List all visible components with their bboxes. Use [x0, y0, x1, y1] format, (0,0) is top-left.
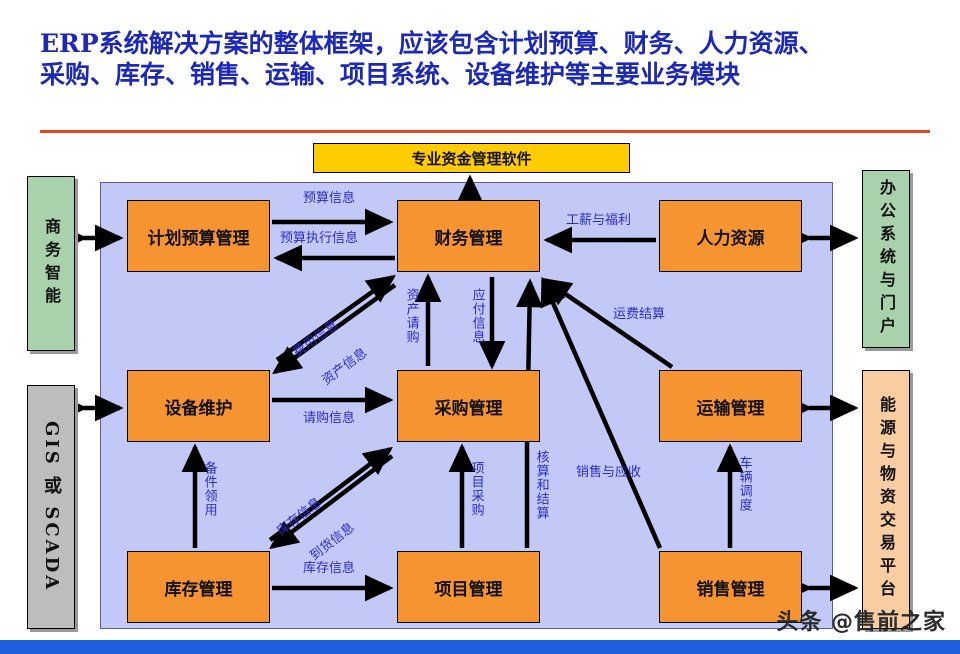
panel-energy-material-platform[interactable]: 能源与物资交易平台: [862, 370, 910, 629]
label-spare-parts: 备件领用: [202, 461, 216, 517]
title-divider: [40, 130, 930, 133]
page-title: ERP系统解决方案的整体框架，应该包含计划预算、财务、人力资源、采购、库存、销售…: [40, 28, 840, 90]
module-purchasing[interactable]: 采购管理: [397, 370, 540, 442]
label-payable-info: 应付信息: [470, 288, 484, 344]
panel-business-intelligence-label: 商务智能: [43, 218, 59, 310]
label-stock-info-bottom: 库存信息: [303, 562, 355, 576]
module-transportation[interactable]: 运输管理: [659, 370, 802, 442]
panel-business-intelligence[interactable]: 商务智能: [27, 176, 75, 351]
label-requisition-info: 请购信息: [303, 412, 355, 426]
module-project[interactable]: 项目管理: [397, 551, 540, 623]
label-salary-welfare: 工薪与福利: [566, 214, 631, 228]
module-inventory[interactable]: 库存管理: [127, 551, 270, 623]
label-project-purchase: 项目采购: [469, 461, 483, 517]
module-plan-budget[interactable]: 计划预算管理: [127, 200, 270, 272]
footer-band: [0, 640, 960, 654]
label-asset-request: 资产请购: [404, 288, 418, 344]
label-accounting-settle: 核算和结算: [534, 450, 548, 520]
panel-gis-scada-label: GIS 或 SCADA: [42, 421, 60, 592]
label-freight-settle: 运费结算: [613, 308, 665, 322]
panel-oa-portal-label: 办公系统与门户: [878, 179, 894, 340]
label-budget-info: 预算信息: [303, 192, 355, 206]
module-finance[interactable]: 财务管理: [397, 200, 540, 272]
panel-gis-scada[interactable]: GIS 或 SCADA: [27, 385, 75, 629]
watermark: 头条 @售前之家: [776, 604, 946, 636]
module-equipment-maintenance[interactable]: 设备维护: [127, 370, 270, 442]
label-vehicle-dispatch: 车辆调度: [737, 456, 751, 512]
label-budget-exec-info: 预算执行信息: [280, 232, 358, 246]
box-professional-fund-software[interactable]: 专业资金管理软件: [313, 143, 630, 173]
label-sales-receivable: 销售与应收: [576, 466, 641, 480]
panel-energy-material-platform-label: 能源与物资交易平台: [878, 396, 894, 603]
panel-oa-portal[interactable]: 办公系统与门户: [862, 170, 910, 348]
module-human-resources[interactable]: 人力资源: [659, 200, 802, 272]
